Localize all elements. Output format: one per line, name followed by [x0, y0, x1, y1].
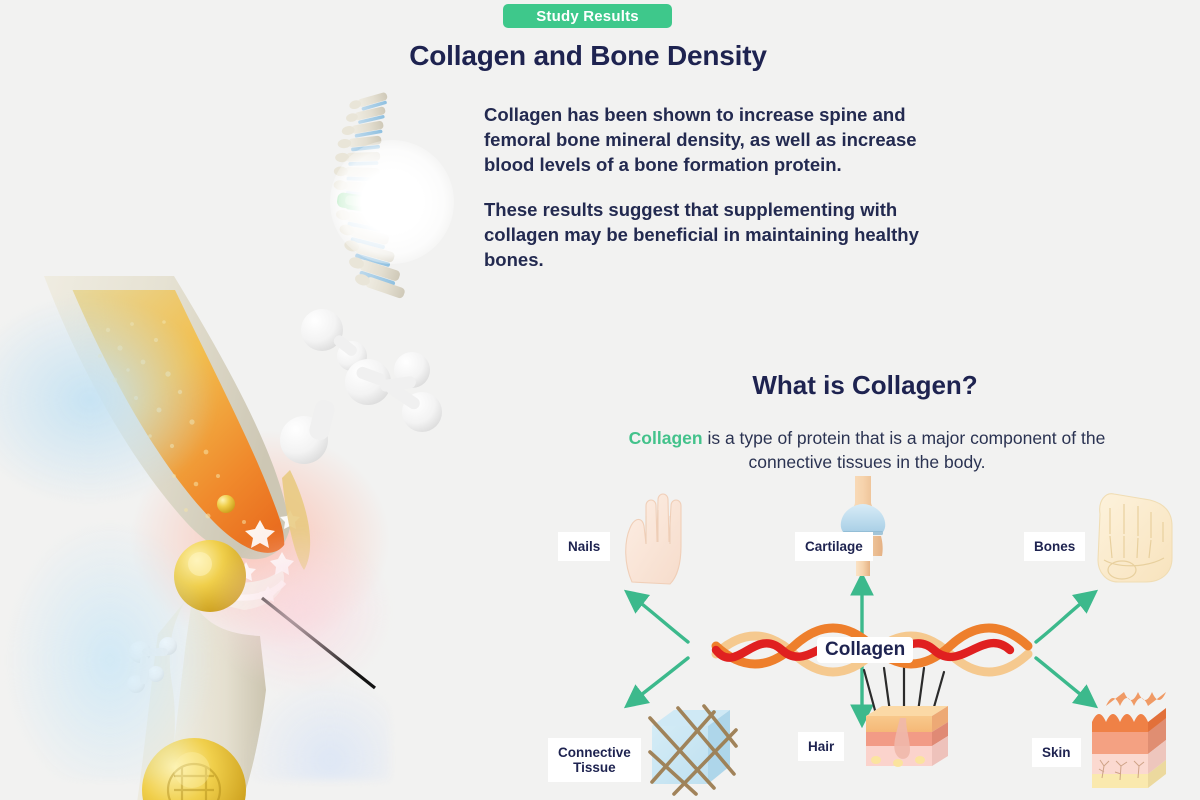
node-label-hair[interactable]: Hair [798, 732, 844, 761]
what-is-collagen-description: Collagen is a type of protein that is a … [600, 426, 1134, 474]
center-node-label[interactable]: Collagen [817, 637, 913, 663]
spine-glow [330, 140, 454, 264]
arrow-to-skin [1036, 658, 1090, 702]
description-rest: is a type of protein that is a major com… [703, 428, 1106, 472]
knee-glow [0, 280, 390, 780]
knee-joint-icon [830, 476, 896, 576]
study-paragraph-1: Collagen has been shown to increase spin… [484, 102, 934, 177]
hand-icon [612, 494, 708, 586]
foot-bones-icon [1088, 488, 1180, 586]
node-label-connective-tissue[interactable]: Connective Tissue [548, 738, 641, 782]
hair-follicle-icon [858, 668, 954, 774]
collagen-diagram: Nails [540, 470, 1200, 800]
status-badge: Study Results [503, 4, 672, 28]
node-label-bones[interactable]: Bones [1024, 532, 1085, 561]
section-title-what-is-collagen: What is Collagen? [600, 370, 1130, 401]
infographic-page: Study Results Collagen and Bone Density [0, 0, 1200, 800]
study-paragraph-2: These results suggest that supplementing… [484, 197, 934, 272]
knee-joint-illustration [0, 270, 480, 800]
node-label-nails[interactable]: Nails [558, 532, 610, 561]
skin-layers-icon [1084, 692, 1180, 792]
accent-word-collagen: Collagen [629, 428, 703, 448]
arrow-to-connective-tissue [632, 658, 688, 702]
study-text-block: Collagen has been shown to increase spin… [484, 102, 934, 272]
arrow-to-bones [1036, 596, 1090, 642]
fiber-mesh-icon [644, 702, 740, 794]
arrow-to-nails [632, 596, 688, 642]
node-label-skin[interactable]: Skin [1032, 738, 1081, 767]
node-label-cartilage[interactable]: Cartilage [795, 532, 873, 561]
page-title: Collagen and Bone Density [0, 40, 1176, 72]
